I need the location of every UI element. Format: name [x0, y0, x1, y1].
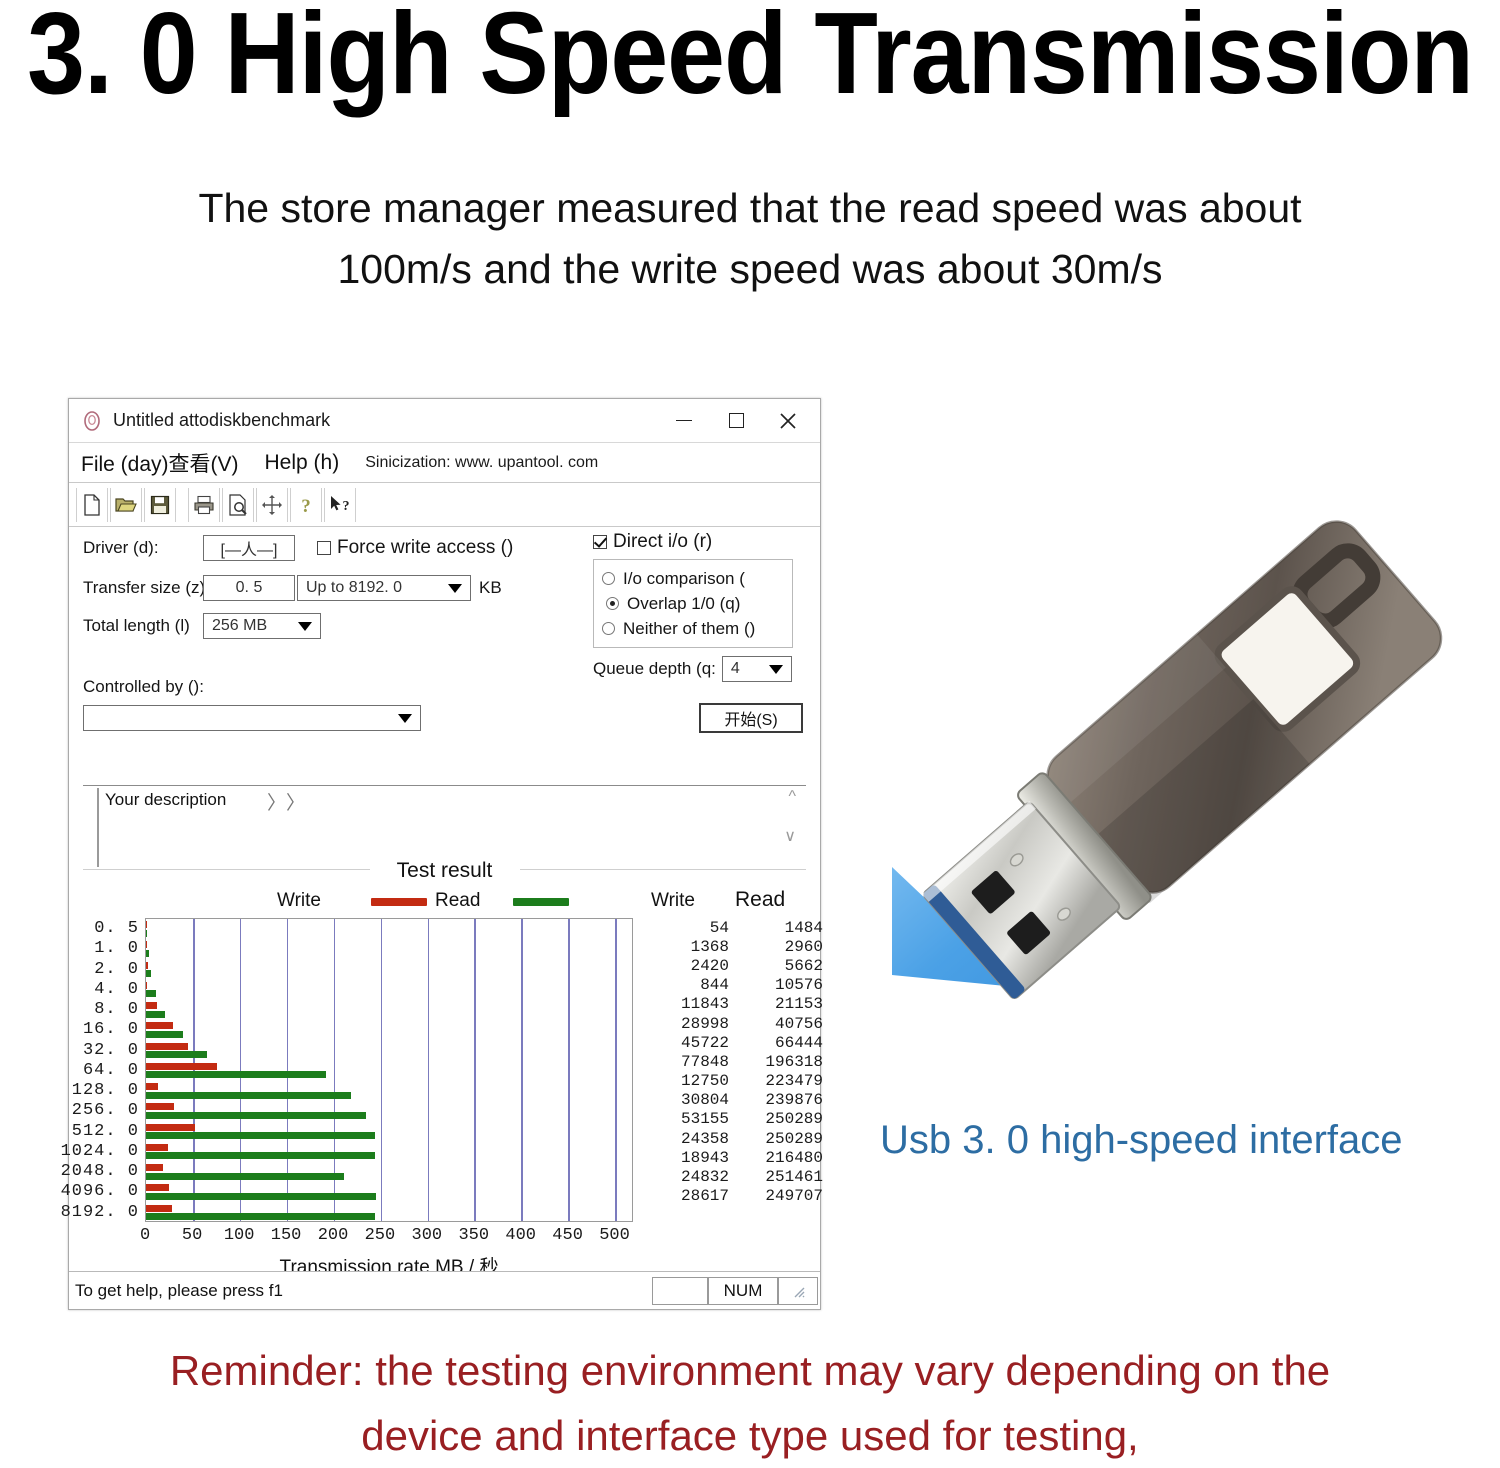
chart-x-tick-label: 400 — [505, 1226, 536, 1245]
usb-caption: Usb 3. 0 high-speed interface — [880, 1118, 1480, 1163]
move-icon — [262, 495, 282, 515]
force-write-checkbox-icon — [317, 541, 331, 555]
chart-x-tick-label: 250 — [365, 1226, 396, 1245]
io-option-neither[interactable]: Neither of them () — [602, 616, 784, 641]
window-titlebar: Untitled attodiskbenchmark — [69, 399, 820, 443]
cell-read: 2960 — [729, 938, 823, 956]
chart-gridline — [428, 919, 430, 1221]
chart-bar-write — [146, 1124, 195, 1131]
cell-write: 30804 — [643, 1091, 729, 1109]
io-option-comparison[interactable]: I/o comparison ( — [602, 566, 784, 591]
table-row: 13682960 — [643, 937, 823, 956]
direct-io-checkbox-icon — [593, 535, 607, 549]
chart-y-tick-label: 8. 0 — [94, 1000, 139, 1019]
chart-bar-write — [146, 1184, 169, 1191]
chart-bar-read — [146, 1112, 366, 1119]
cell-write: 18943 — [643, 1149, 729, 1167]
queue-depth-label: Queue depth (q: — [593, 659, 716, 679]
maximize-button[interactable] — [710, 400, 762, 442]
cell-write: 54 — [643, 919, 729, 937]
chart-y-axis-labels: 0. 51. 02. 04. 08. 016. 032. 064. 0128. … — [83, 918, 143, 1222]
io-option-overlap[interactable]: Overlap 1/0 (q) — [602, 591, 784, 616]
toolbar-print-group: ? ? — [187, 488, 357, 522]
chart-bar-write — [146, 1083, 158, 1090]
chart-bar-write — [146, 982, 147, 989]
chart-y-tick-label: 16. 0 — [83, 1020, 139, 1039]
cell-write: 844 — [643, 976, 729, 994]
chart-bar-read — [146, 1193, 376, 1200]
description-chevrons-icon: 〉〉 — [267, 788, 305, 815]
print-button[interactable] — [188, 488, 220, 522]
cell-write: 45722 — [643, 1034, 729, 1052]
about-help-icon: ? — [298, 494, 314, 516]
chart-bar-read — [146, 1011, 165, 1018]
transfer-size-row: Transfer size (z): 0. 5 Up to 8192. 0 KB — [83, 575, 502, 601]
page-subtitle-line-1: The store manager measured that the read… — [0, 178, 1500, 239]
driver-select[interactable]: [—人—] — [203, 535, 295, 561]
chart-gridline — [521, 919, 523, 1221]
footer-line-1: Reminder: the testing environment may va… — [0, 1338, 1500, 1403]
chart-x-tick-label: 350 — [458, 1226, 489, 1245]
benchmark-settings-form: Driver (d): [—人—] Force write access () … — [69, 527, 820, 785]
driver-label: Driver (d): — [83, 538, 203, 558]
total-length-row: Total length (l) 256 MB — [83, 613, 321, 639]
table-row: 4572266444 — [643, 1033, 823, 1052]
io-option-neither-label: Neither of them () — [623, 619, 755, 639]
chart-bar-read — [146, 1092, 351, 1099]
cell-write: 12750 — [643, 1072, 729, 1090]
table-row: 24358250289 — [643, 1129, 823, 1148]
transfer-size-upto-dropdown[interactable]: Up to 8192. 0 — [297, 575, 471, 601]
resize-grip-icon — [791, 1284, 805, 1298]
footer-reminder: Reminder: the testing environment may va… — [0, 1338, 1500, 1468]
chart-gridline — [615, 919, 617, 1221]
chart-bar-write — [146, 941, 147, 948]
legend-swatch-read — [513, 898, 569, 906]
print-preview-button[interactable] — [222, 488, 254, 522]
transfer-size-label: Transfer size (z): — [83, 578, 203, 598]
chart-bar-read — [146, 1071, 326, 1078]
total-length-value: 256 MB — [212, 617, 267, 635]
chart-gridline — [568, 919, 570, 1221]
controlled-by-label: Controlled by (): — [83, 677, 803, 697]
minimize-icon — [676, 420, 692, 422]
cell-read: 250289 — [729, 1110, 823, 1128]
chart-bar-write — [146, 1205, 172, 1212]
chart-bar-write — [146, 1164, 163, 1171]
table-row: 77848196318 — [643, 1052, 823, 1071]
menubar: File (day)查看(V) Help (h) Sinicization: w… — [69, 443, 820, 483]
description-caret — [97, 788, 99, 867]
status-bar: To get help, please press f1 NUM — [69, 1271, 820, 1309]
page-subtitle: The store manager measured that the read… — [0, 178, 1500, 300]
chart-y-tick-label: 64. 0 — [83, 1061, 139, 1080]
cell-write: 2420 — [643, 957, 729, 975]
table-row: 1184321153 — [643, 995, 823, 1014]
force-write-access-checkbox[interactable]: Force write access () — [317, 537, 513, 559]
chart-y-tick-label: 512. 0 — [72, 1122, 139, 1141]
new-file-icon — [82, 494, 102, 516]
chart-bar-read — [146, 1051, 207, 1058]
close-button[interactable] — [762, 400, 814, 442]
chart-y-tick-label: 1. 0 — [94, 939, 139, 958]
chart-gridline — [474, 919, 476, 1221]
chart-y-tick-label: 256. 0 — [72, 1101, 139, 1120]
chart-bar-write — [146, 962, 148, 969]
minimize-button[interactable] — [658, 400, 710, 442]
legend-label-write-left: Write — [277, 890, 321, 912]
test-result-chart: Test result Write Read Write Read 0. 51.… — [83, 869, 806, 1303]
table-row: 12750223479 — [643, 1072, 823, 1091]
chart-bar-read — [146, 1213, 375, 1220]
radio-selected-icon — [606, 597, 619, 610]
table-row: 84410576 — [643, 976, 823, 995]
transfer-size-unit: KB — [479, 578, 502, 598]
cell-read: 21153 — [729, 995, 823, 1013]
io-option-overlap-label: Overlap 1/0 (q) — [627, 594, 740, 614]
chart-legend: Write Read Write Read — [83, 890, 806, 914]
table-row: 541484 — [643, 918, 823, 937]
legend-label-read: Read — [435, 890, 480, 912]
radio-icon — [602, 622, 615, 635]
chevron-down-icon — [398, 714, 412, 723]
app-logo-icon — [81, 410, 103, 432]
chart-bar-read — [146, 970, 151, 977]
direct-io-section: Direct i/o (r) I/o comparison ( Overlap … — [593, 531, 793, 682]
force-write-label: Force write access () — [337, 537, 513, 559]
chart-bar-read — [146, 1152, 375, 1159]
chart-bar-write — [146, 1063, 217, 1070]
open-folder-icon — [115, 495, 137, 515]
description-label: Your description — [105, 790, 226, 810]
chart-bar-write — [146, 1103, 174, 1110]
chart-bar-write — [146, 921, 147, 928]
scroll-down-arrow-icon[interactable]: ∨ — [784, 826, 796, 846]
io-option-comparison-label: I/o comparison ( — [623, 569, 745, 589]
status-help-text: To get help, please press f1 — [75, 1281, 652, 1301]
chart-y-tick-label: 0. 5 — [94, 919, 139, 938]
status-indicator-num: NUM — [708, 1277, 778, 1305]
menu-sinicization-note: Sinicization: www. upantool. com — [365, 454, 598, 472]
cell-write: 1368 — [643, 938, 729, 956]
cell-read: 239876 — [729, 1091, 823, 1109]
column-header-write: Write — [651, 890, 695, 912]
chart-x-tick-label: 0 — [140, 1226, 150, 1245]
io-mode-group: I/o comparison ( Overlap 1/0 (q) Neither… — [593, 559, 793, 648]
context-help-icon: ? — [328, 494, 352, 516]
cell-write: 24358 — [643, 1130, 729, 1148]
save-disk-icon — [150, 495, 170, 515]
direct-io-label: Direct i/o (r) — [613, 531, 712, 553]
controlled-by-section: Controlled by (): 开始(S) — [83, 677, 803, 733]
menu-item-help[interactable]: Help (h) — [265, 451, 340, 475]
chart-bar-read — [146, 930, 147, 937]
cell-read: 196318 — [729, 1053, 823, 1071]
status-indicator-blank — [652, 1277, 708, 1305]
chart-x-tick-label: 300 — [412, 1226, 443, 1245]
cell-read: 10576 — [729, 976, 823, 994]
chevron-down-icon — [298, 622, 312, 631]
chart-bar-write — [146, 1022, 173, 1029]
legend-swatch-write — [371, 898, 427, 906]
footer-line-2: device and interface type used for testi… — [0, 1403, 1500, 1468]
chart-x-tick-label: 50 — [182, 1226, 202, 1245]
chevron-down-icon — [448, 584, 462, 593]
chart-gridline — [381, 919, 383, 1221]
cell-read: 5662 — [729, 957, 823, 975]
total-length-dropdown[interactable]: 256 MB — [203, 613, 321, 639]
toolbar: ? ? — [69, 483, 820, 527]
print-icon — [193, 495, 215, 515]
chart-x-tick-label: 200 — [318, 1226, 349, 1245]
chevron-down-icon — [769, 665, 783, 674]
save-button[interactable] — [144, 488, 176, 522]
chart-y-tick-label: 2. 0 — [94, 960, 139, 979]
chart-title: Test result — [370, 859, 520, 883]
context-help-button[interactable]: ? — [324, 488, 356, 522]
transfer-size-upto-value: Up to 8192. 0 — [306, 579, 402, 597]
driver-row: Driver (d): [—人—] Force write access () — [83, 535, 513, 561]
svg-text:?: ? — [301, 496, 311, 516]
cell-read: 251461 — [729, 1168, 823, 1186]
chart-bar-write — [146, 1002, 157, 1009]
page-title: 3. 0 High Speed Transmission — [0, 0, 1500, 115]
description-panel[interactable]: Your description 〉〉 ^ ∨ — [83, 785, 806, 869]
chart-y-tick-label: 4096. 0 — [61, 1182, 139, 1201]
cell-read: 1484 — [729, 919, 823, 937]
cell-read: 250289 — [729, 1130, 823, 1148]
chart-y-tick-label: 8192. 0 — [61, 1203, 139, 1222]
cell-write: 11843 — [643, 995, 729, 1013]
chart-y-tick-label: 32. 0 — [83, 1041, 139, 1060]
maximize-icon — [729, 413, 744, 428]
usb-drive-image — [880, 375, 1460, 1015]
table-row: 18943216480 — [643, 1148, 823, 1167]
chart-x-tick-label: 450 — [552, 1226, 583, 1245]
controlled-by-dropdown[interactable] — [83, 705, 421, 731]
cell-read: 40756 — [729, 1015, 823, 1033]
chart-bar-write — [146, 1043, 188, 1050]
scroll-up-arrow-icon[interactable]: ^ — [788, 788, 796, 806]
print-preview-icon — [228, 494, 248, 516]
resize-grip[interactable] — [778, 1277, 818, 1305]
chart-bar-read — [146, 1173, 344, 1180]
svg-text:?: ? — [343, 499, 350, 514]
chart-bar-read — [146, 1132, 375, 1139]
open-folder-button[interactable] — [110, 488, 142, 522]
start-button[interactable]: 开始(S) — [699, 703, 803, 733]
chart-x-axis-ticks: 050100150200250300350400450500 — [145, 1226, 633, 1252]
queue-depth-value: 4 — [731, 660, 740, 678]
cell-write: 28998 — [643, 1015, 729, 1033]
chart-y-tick-label: 128. 0 — [72, 1081, 139, 1100]
table-row: 24205662 — [643, 956, 823, 975]
radio-icon — [602, 572, 615, 585]
attodiskbenchmark-window: Untitled attodiskbenchmark File (day)查看(… — [68, 398, 821, 1310]
chart-y-tick-label: 4. 0 — [94, 980, 139, 999]
table-row: 28617249707 — [643, 1187, 823, 1206]
chart-y-tick-label: 2048. 0 — [61, 1162, 139, 1181]
chart-bar-read — [146, 990, 156, 997]
table-row: 24832251461 — [643, 1167, 823, 1186]
usb-drive-body — [912, 511, 1452, 1015]
chart-y-tick-label: 1024. 0 — [61, 1142, 139, 1161]
move-button[interactable] — [256, 488, 288, 522]
cell-write: 24832 — [643, 1168, 729, 1186]
column-header-read: Read — [735, 888, 785, 912]
new-file-button[interactable] — [76, 488, 108, 522]
toolbar-file-group — [75, 488, 177, 522]
chart-plot-area — [145, 918, 633, 1222]
cell-read: 216480 — [729, 1149, 823, 1167]
chart-bar-read — [146, 1031, 183, 1038]
cell-write: 28617 — [643, 1187, 729, 1205]
about-button[interactable]: ? — [290, 488, 322, 522]
cell-read: 223479 — [729, 1072, 823, 1090]
transfer-size-input[interactable]: 0. 5 — [203, 575, 295, 601]
close-icon — [778, 411, 798, 431]
chart-x-tick-label: 100 — [224, 1226, 255, 1245]
cell-write: 77848 — [643, 1053, 729, 1071]
chart-x-tick-label: 500 — [599, 1226, 630, 1245]
table-row: 2899840756 — [643, 1014, 823, 1033]
cell-read: 66444 — [729, 1034, 823, 1052]
total-length-label: Total length (l) — [83, 616, 203, 636]
cell-write: 53155 — [643, 1110, 729, 1128]
chart-bar-write — [146, 1144, 168, 1151]
table-row: 53155250289 — [643, 1110, 823, 1129]
menu-item-file[interactable]: File (day)查看(V) — [81, 448, 239, 478]
chart-bar-read — [146, 950, 149, 957]
page-subtitle-line-2: 100m/s and the write speed was about 30m… — [0, 239, 1500, 300]
direct-io-checkbox[interactable]: Direct i/o (r) — [593, 531, 793, 553]
cell-read: 249707 — [729, 1187, 823, 1205]
table-row: 30804239876 — [643, 1091, 823, 1110]
chart-x-tick-label: 150 — [271, 1226, 302, 1245]
window-title: Untitled attodiskbenchmark — [113, 410, 658, 431]
